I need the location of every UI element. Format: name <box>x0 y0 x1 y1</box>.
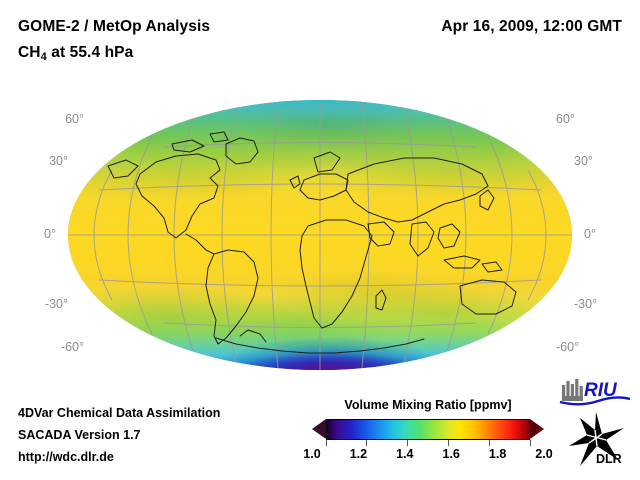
lat-label-right-30: 30° <box>574 154 593 168</box>
lat-label-left-m60: -60° <box>28 340 84 354</box>
colorbar-title: Volume Mixing Ratio [ppmv] <box>312 398 544 412</box>
lat-label-left-m30: -30° <box>28 297 68 311</box>
colorbar-tick-label: 1.4 <box>396 447 413 461</box>
coastlines <box>68 100 572 370</box>
riu-logo: RIU <box>558 376 632 406</box>
credits-line-2: SACADA Version 1.7 <box>18 424 220 446</box>
page-title: GOME-2 / MetOp Analysis <box>18 18 210 36</box>
credits-block: 4DVar Chemical Data Assimilation SACADA … <box>18 402 220 468</box>
colorbar-tick-labels: 1.01.21.41.61.82.0 <box>312 447 544 463</box>
credits-line-1: 4DVar Chemical Data Assimilation <box>18 402 220 424</box>
lat-label-left-30: 30° <box>28 154 68 168</box>
lat-label-right-60: 60° <box>556 112 575 126</box>
colorbar-tick-label: 1.0 <box>303 447 320 461</box>
colorbar-bar <box>312 419 544 440</box>
lat-label-right-0: 0° <box>584 227 596 241</box>
species-label: CH4 at 55.4 hPa <box>18 44 133 63</box>
date-stamp: Apr 16, 2009, 12:00 GMT <box>441 18 622 36</box>
colorbar-tick <box>407 440 408 446</box>
colorbar-low-cap <box>312 419 326 439</box>
map-container: 60° 30° 0° -30° -60° 60° 30° 0° -30° -60… <box>28 92 612 378</box>
lat-label-right-m60: -60° <box>556 340 579 354</box>
colorbar-tick <box>366 440 367 446</box>
mollweide-map <box>68 100 572 370</box>
colorbar-tick-label: 2.0 <box>535 447 552 461</box>
colorbar-tick <box>530 440 531 446</box>
colorbar-ticks <box>326 440 530 446</box>
species-prefix: CH <box>18 44 41 61</box>
colorbar-tick <box>326 440 327 446</box>
colorbar: Volume Mixing Ratio [ppmv] 1.01.21.41.61… <box>312 398 544 463</box>
colorbar-gradient <box>326 419 530 440</box>
colorbar-high-cap <box>530 419 544 439</box>
colorbar-tick <box>448 440 449 446</box>
colorbar-tick-label: 1.6 <box>442 447 459 461</box>
colorbar-tick-label: 1.8 <box>489 447 506 461</box>
lat-label-left-0: 0° <box>28 227 56 241</box>
credits-line-3[interactable]: http://wdc.dlr.de <box>18 446 220 468</box>
colorbar-tick <box>489 440 490 446</box>
lat-label-left-60: 60° <box>28 112 84 126</box>
dlr-wordmark: DLR <box>596 452 622 466</box>
colorbar-tick-label: 1.2 <box>350 447 367 461</box>
species-suffix: at 55.4 hPa <box>47 44 134 61</box>
lat-label-right-m30: -30° <box>574 297 597 311</box>
globe-disc <box>68 100 572 370</box>
